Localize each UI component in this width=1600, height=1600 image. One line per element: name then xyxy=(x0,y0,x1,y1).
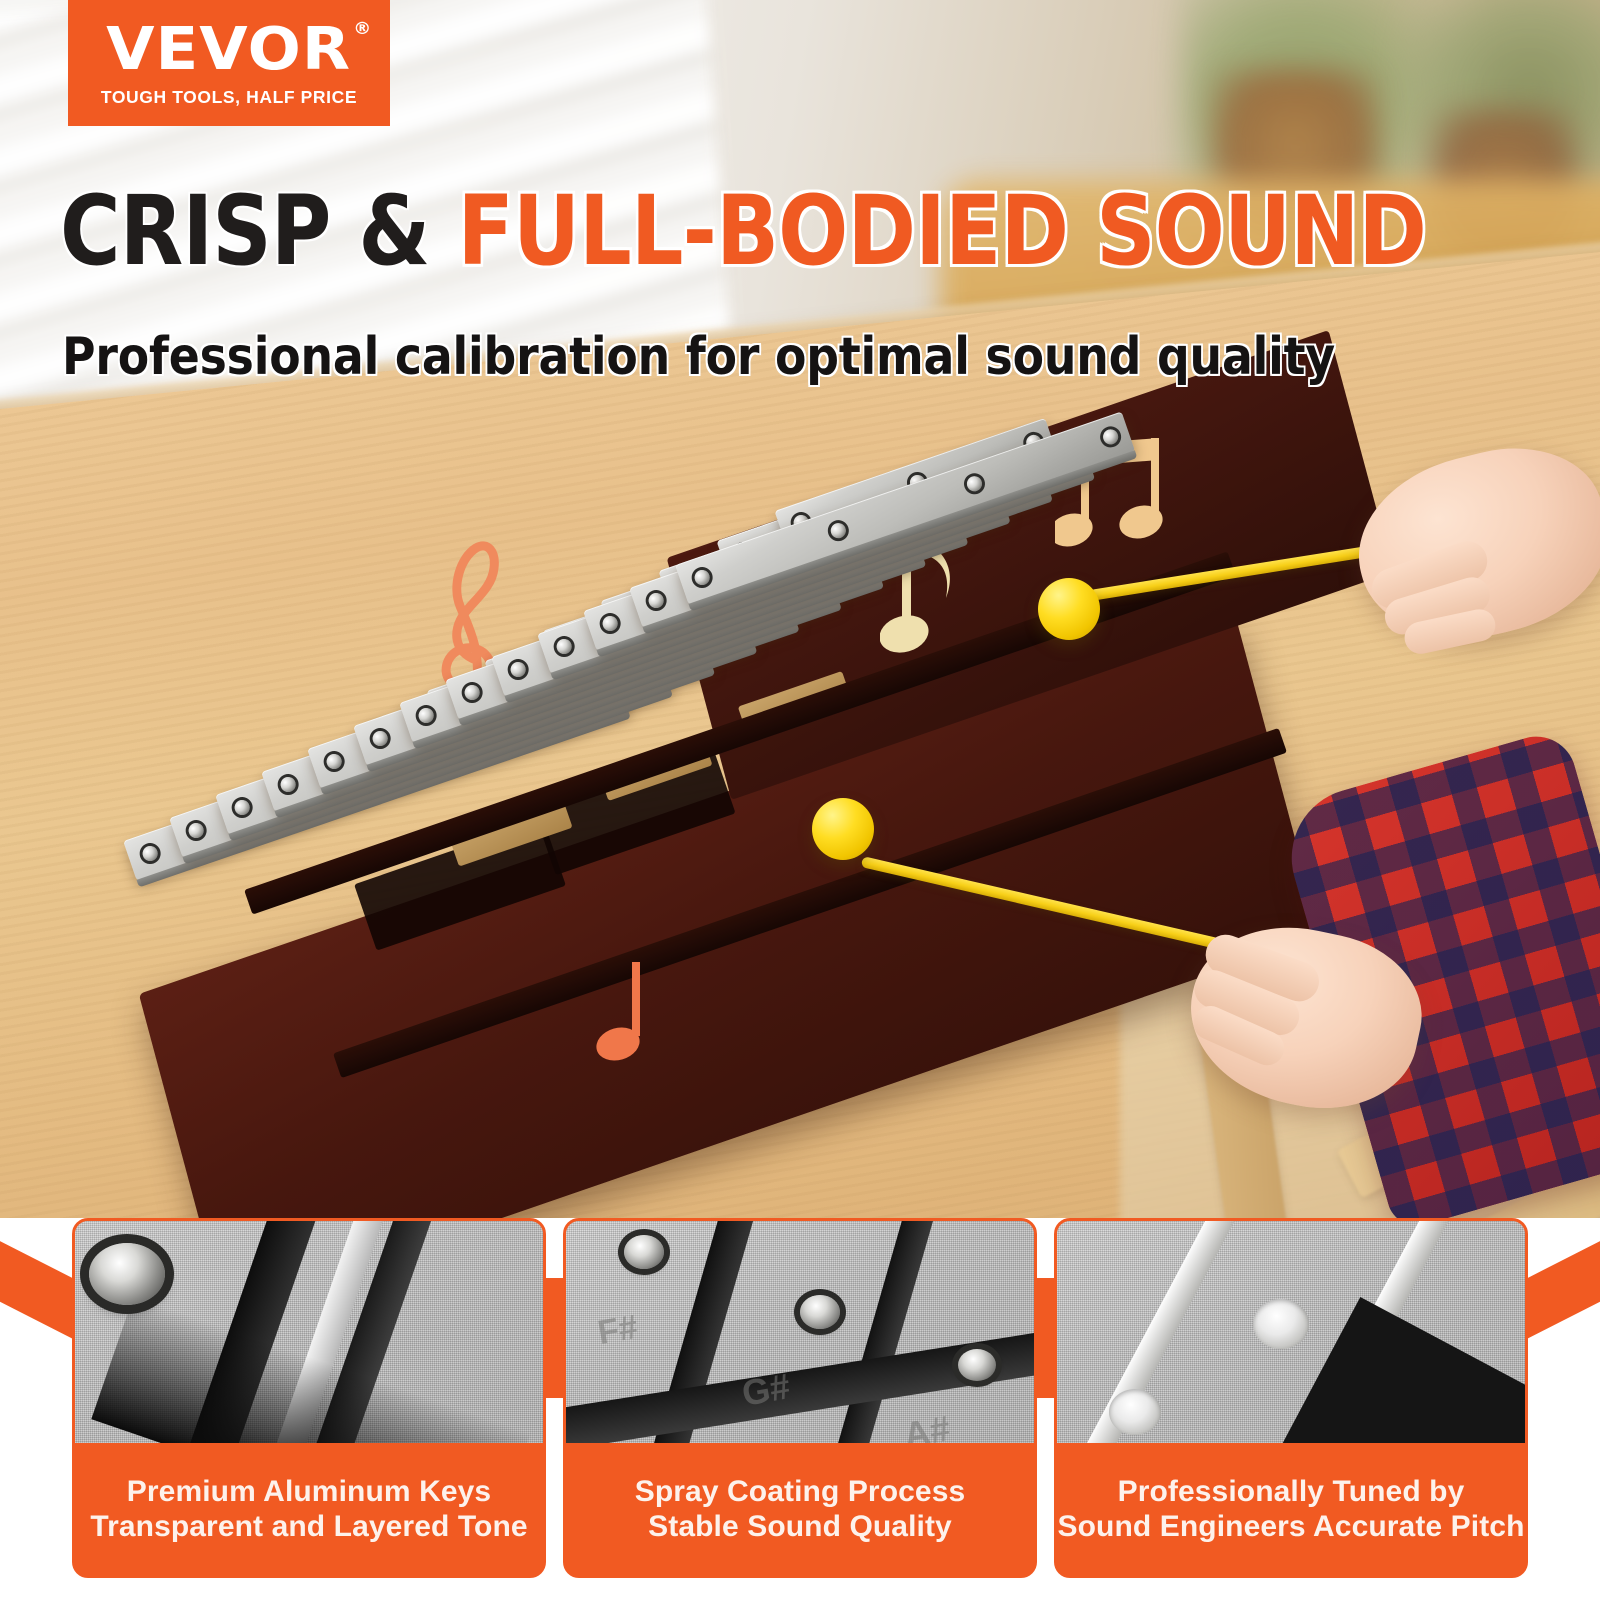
key-screw xyxy=(601,614,620,633)
key-screw xyxy=(417,706,436,725)
engraved-note-f-sharp: F# xyxy=(595,1308,641,1353)
logo-text: VEVOR xyxy=(106,14,351,83)
caption-line-1: Professionally Tuned by xyxy=(1118,1474,1465,1509)
key-screw xyxy=(1101,427,1120,446)
key-screw xyxy=(463,683,482,702)
mallet-head-lower xyxy=(812,798,874,860)
key-screw xyxy=(829,521,848,540)
logo-wordmark: VEVOR ® xyxy=(106,19,351,78)
headline: CRISP & FULL-BODIED SOUND xyxy=(60,183,1426,279)
caption-line-2: Sound Engineers Accurate Pitch xyxy=(1058,1509,1525,1544)
caption-line-2: Transparent and Layered Tone xyxy=(90,1509,527,1544)
marketing-image: VEVOR ® TOUGH TOOLS, HALF PRICE CRISP & … xyxy=(0,0,1600,1600)
headline-part-dark: CRISP & xyxy=(60,175,457,287)
key-screw xyxy=(509,660,528,679)
key-screw xyxy=(965,474,984,493)
registered-trademark-icon: ® xyxy=(354,21,373,38)
headline-part-orange: FULL-BODIED SOUND xyxy=(457,175,1426,287)
key-screw xyxy=(187,821,206,840)
feature-panel-spray-coating-process[interactable]: F# G# A# Spray Coating Process Stable So… xyxy=(563,1218,1037,1578)
key-screw xyxy=(647,591,666,610)
tuning-hole-icon xyxy=(1253,1299,1309,1349)
key-screw xyxy=(371,729,390,748)
feature-caption-2: Spray Coating Process Stable Sound Quali… xyxy=(566,1443,1034,1575)
mallet-head-upper xyxy=(1038,578,1100,640)
key-screw xyxy=(279,775,298,794)
engraved-note-g-sharp: G# xyxy=(739,1365,794,1415)
feature-panel-professionally-tuned[interactable]: Professionally Tuned by Sound Engineers … xyxy=(1054,1218,1528,1578)
feature-caption-3: Professionally Tuned by Sound Engineers … xyxy=(1057,1443,1525,1575)
feature-panel-premium-aluminum-keys[interactable]: Premium Aluminum Keys Transparent and La… xyxy=(72,1218,546,1578)
key-screw xyxy=(555,637,574,656)
feature-photo-1 xyxy=(75,1221,543,1449)
feature-photo-3 xyxy=(1057,1221,1525,1449)
screw-closeup-icon xyxy=(89,1243,165,1305)
vevor-logo[interactable]: VEVOR ® TOUGH TOOLS, HALF PRICE xyxy=(68,0,390,126)
tuning-hole-icon xyxy=(1109,1389,1161,1435)
caption-line-1: Spray Coating Process xyxy=(635,1474,966,1509)
feature-photo-2: F# G# A# xyxy=(566,1221,1034,1449)
feature-caption-1: Premium Aluminum Keys Transparent and La… xyxy=(75,1443,543,1575)
logo-tagline: TOUGH TOOLS, HALF PRICE xyxy=(101,87,357,108)
key-screw xyxy=(141,844,160,863)
key-screw xyxy=(693,568,712,587)
caption-line-1: Premium Aluminum Keys xyxy=(127,1474,491,1509)
subheadline: Professional calibration for optimal sou… xyxy=(62,327,1335,387)
feature-panel-strip: Premium Aluminum Keys Transparent and La… xyxy=(0,1218,1600,1600)
key-screw xyxy=(325,752,344,771)
caption-line-2: Stable Sound Quality xyxy=(648,1509,952,1544)
key-screw xyxy=(233,798,252,817)
